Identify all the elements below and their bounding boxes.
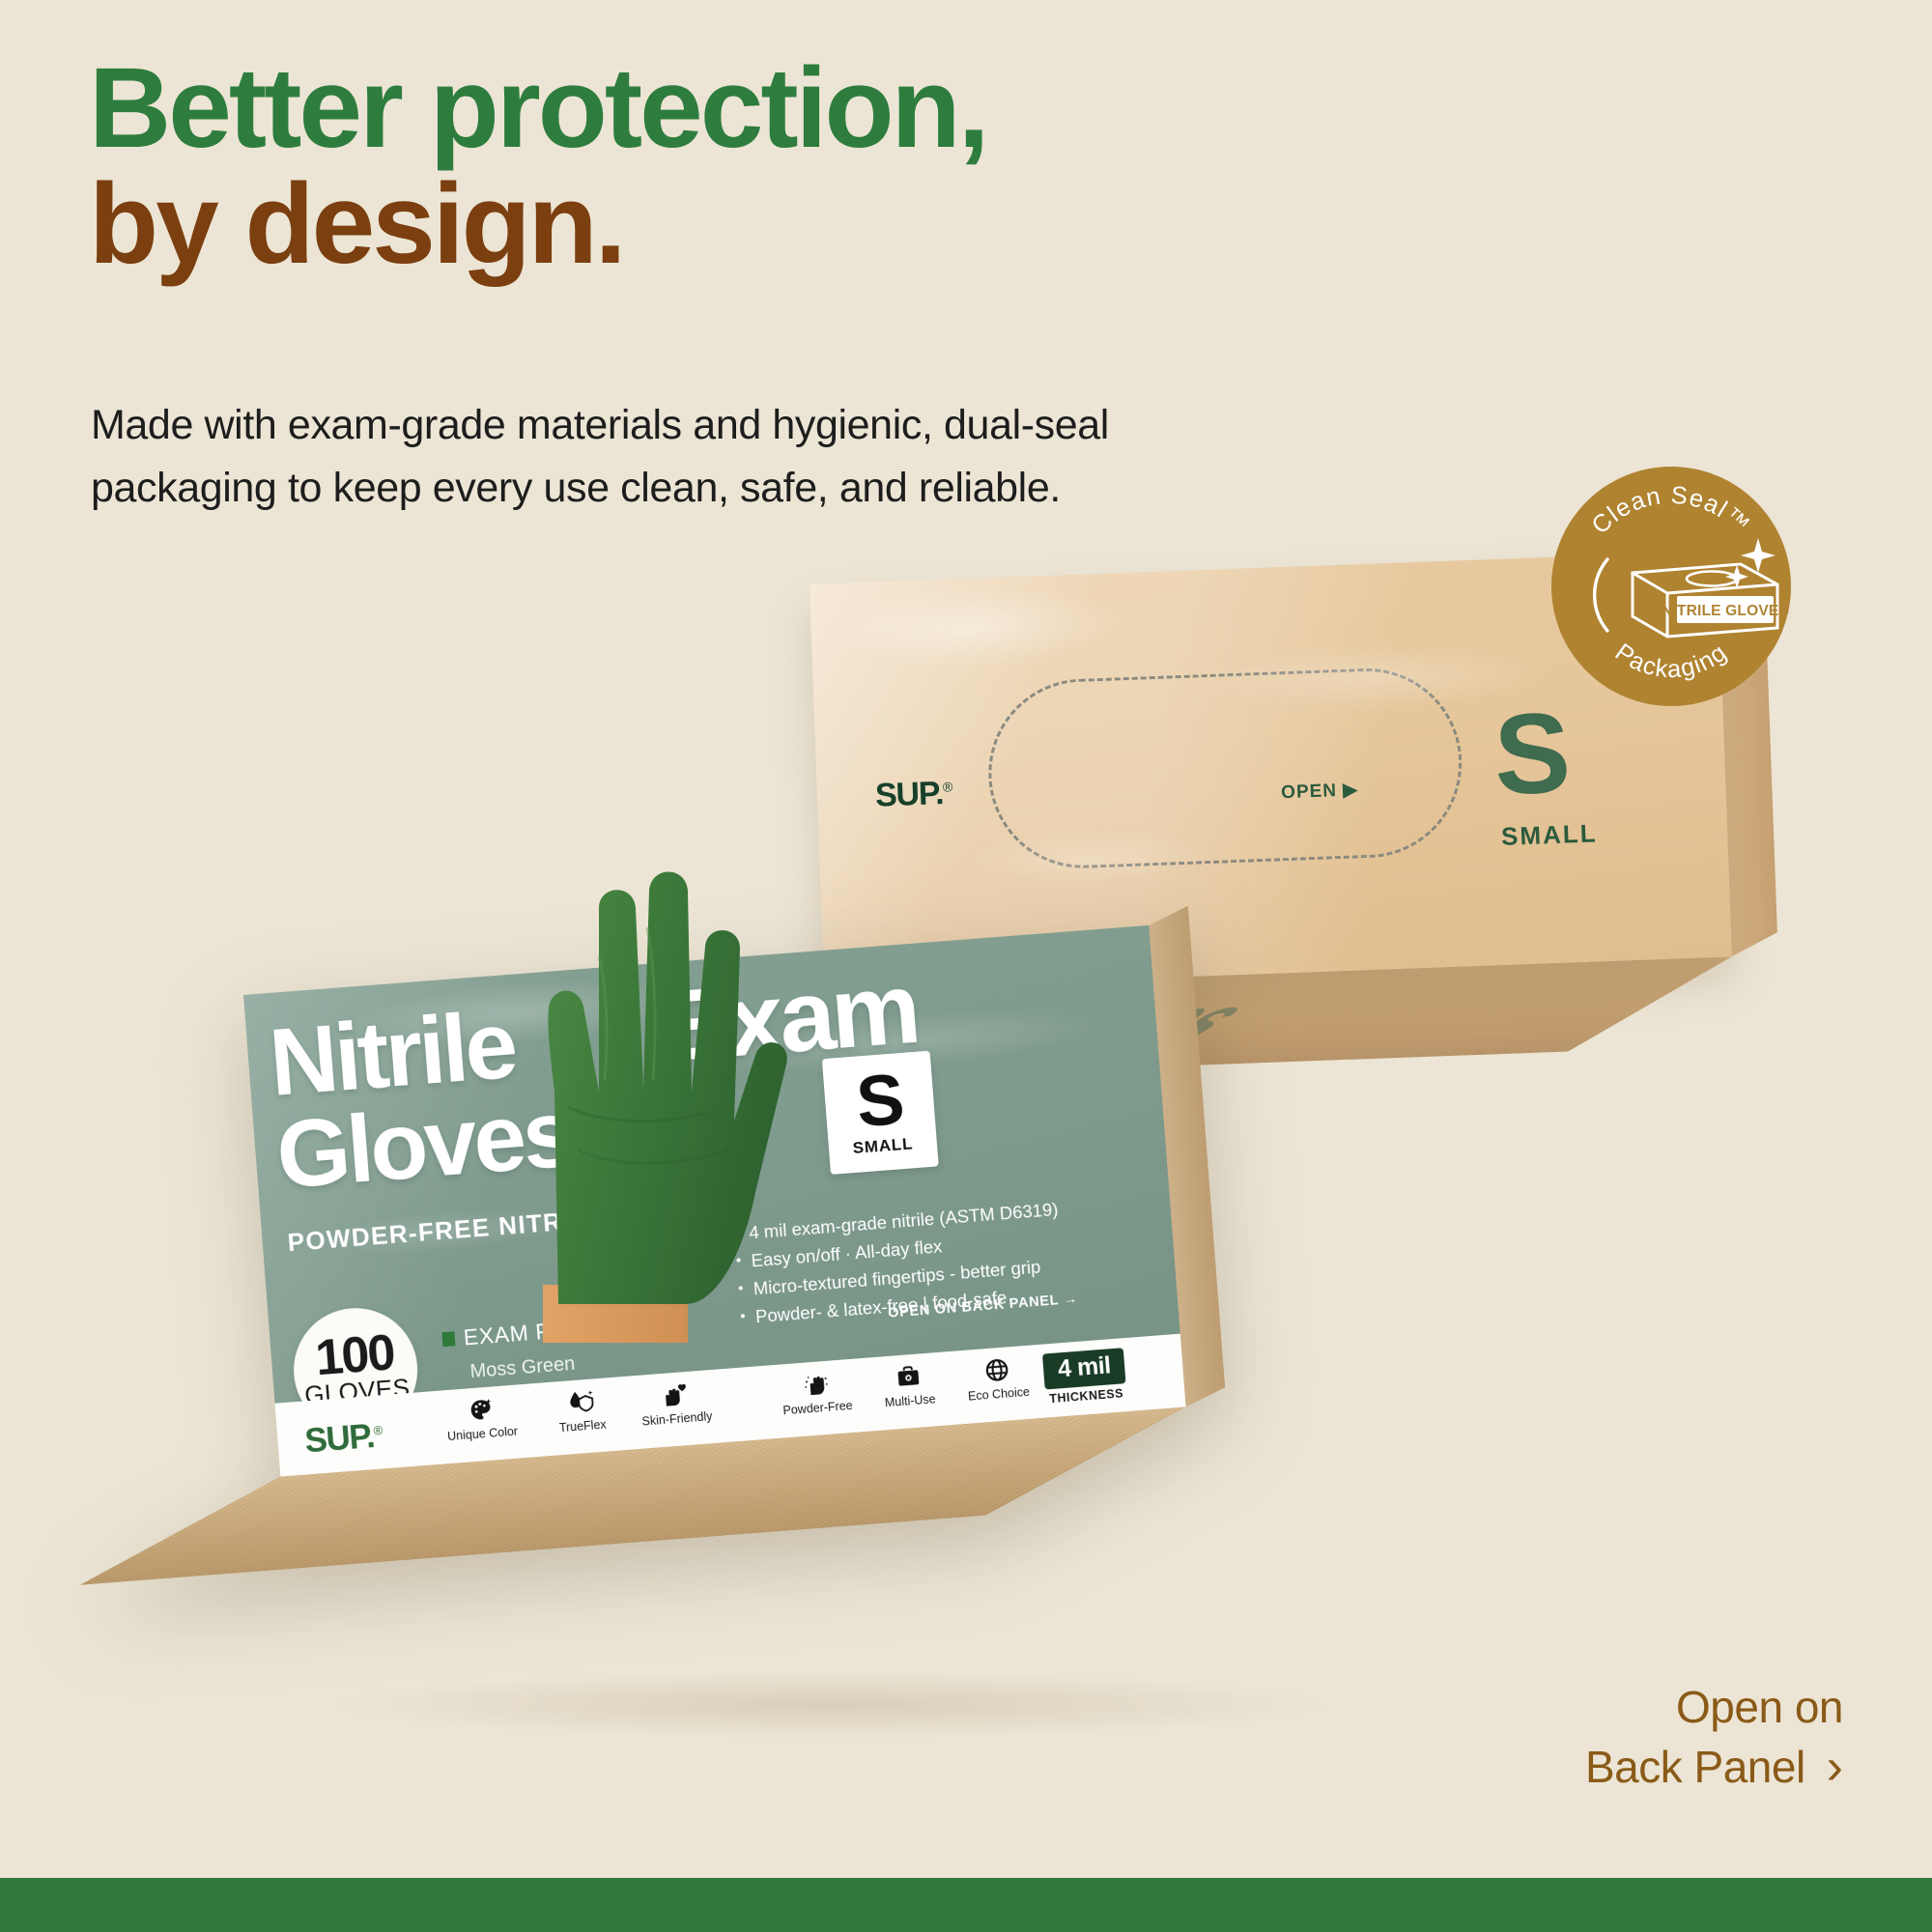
seal-bottom-text: Packaging [1610, 639, 1733, 683]
feature-label: Powder-Free [782, 1399, 853, 1418]
glove-count-number: 100 [314, 1330, 395, 1382]
feature-powder-free: Powder-Free [769, 1366, 865, 1418]
feature-label: Skin-Friendly [641, 1409, 713, 1429]
thickness-label: THICKNESS [1049, 1386, 1124, 1406]
perforation-outline [985, 665, 1465, 871]
kraft-size-word: SMALL [1500, 818, 1598, 852]
glove-count-word: GLOVES [303, 1373, 411, 1410]
droplet-shield-icon [566, 1386, 595, 1417]
cta-line-1: Open on [1585, 1677, 1843, 1737]
product-color-name: Moss Green [469, 1353, 576, 1383]
front-brand-name: SUP. [303, 1417, 375, 1460]
kraft-size-letter: S [1492, 701, 1571, 807]
promo-canvas: Better protection, by design. Made with … [0, 0, 1932, 1932]
front-size-letter: S [854, 1067, 904, 1135]
front-brand-trademark: ® [373, 1423, 382, 1438]
cta-line-2: Back Panel [1585, 1737, 1805, 1797]
front-size-word: SMALL [852, 1135, 914, 1159]
kraft-brand-trademark: ® [943, 779, 952, 794]
hand-heart-icon [661, 1379, 690, 1410]
headline-line-2: by design. [89, 166, 986, 282]
subtitle-line-2: packaging to keep every use clean, safe,… [91, 457, 1463, 520]
feature-label: Eco Choice [968, 1385, 1031, 1404]
hand-sparkle-icon [802, 1369, 831, 1400]
svg-text:NITRILE GLOVES: NITRILE GLOVES [1662, 603, 1789, 619]
floor-shadow [319, 1671, 1343, 1739]
cta-open-back-panel[interactable]: Open on Back Panel › [1585, 1677, 1843, 1797]
page-subtitle: Made with exam-grade materials and hygie… [91, 394, 1463, 521]
subtitle-line-1: Made with exam-grade materials and hygie… [91, 394, 1463, 457]
feature-eco-choice: Eco Choice [950, 1352, 1045, 1405]
thickness-value: 4 mil [1042, 1348, 1126, 1389]
green-glove-image [454, 802, 802, 1343]
feature-label: TrueFlex [558, 1418, 607, 1435]
feature-unique-color: Unique Color [434, 1392, 529, 1444]
seal-swoosh-icon [1595, 559, 1607, 631]
page-title: Better protection, by design. [89, 50, 986, 283]
front-brand-logo: SUP.® [303, 1416, 384, 1461]
feature-skin-friendly: Skin-Friendly [628, 1377, 724, 1429]
kraft-brand-logo: SUP.® [874, 775, 952, 815]
clean-seal-graphic: Clean Seal™ Packaging NITRILE GLOVES [1551, 467, 1791, 706]
palette-icon [468, 1394, 495, 1425]
feature-label: Unique Color [447, 1425, 519, 1444]
kraft-brand-name: SUP. [874, 775, 944, 814]
clean-seal-badge: Clean Seal™ Packaging NITRILE GLOVES [1551, 467, 1791, 706]
tissue-box-icon: NITRILE GLOVES [1633, 564, 1789, 637]
bottom-accent-bar [0, 1878, 1932, 1932]
headline-line-1: Better protection, [89, 50, 986, 166]
kraft-open-label: OPEN ▶ [1281, 779, 1359, 804]
feature-trueflex: TrueFlex [533, 1384, 629, 1436]
thickness-badge: 4 mil THICKNESS [1042, 1348, 1127, 1406]
open-on-back-panel-label: OPEN ON BACK PANEL → [888, 1292, 1079, 1321]
front-size-chip: S SMALL [822, 1051, 939, 1175]
feature-multi-use: Multi-Use [861, 1359, 956, 1411]
chevron-right-icon[interactable]: › [1827, 1742, 1843, 1792]
globe-icon [983, 1354, 1010, 1385]
seal-top-text: Clean Seal™ [1586, 482, 1755, 540]
glove-count-badge: 100 GLOVES [289, 1304, 421, 1436]
briefcase-icon [895, 1361, 922, 1392]
feature-label: Multi-Use [884, 1392, 936, 1409]
